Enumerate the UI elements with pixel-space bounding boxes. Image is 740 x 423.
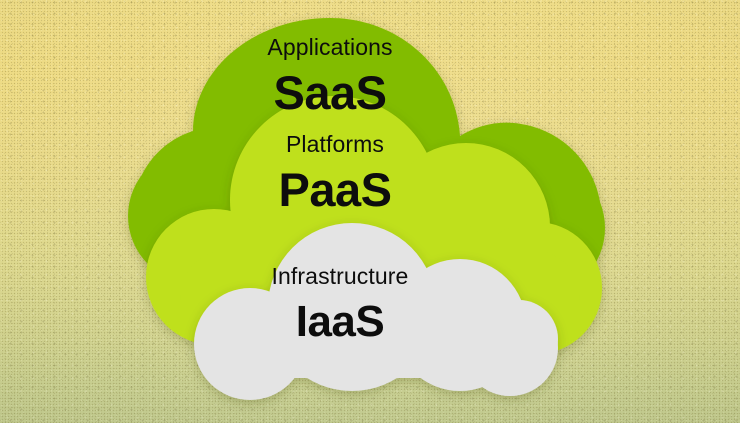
acronym-paas: PaaS <box>195 166 475 213</box>
tier-label-platforms: Platforms <box>195 133 475 156</box>
label-group-iaas: Infrastructure IaaS <box>200 265 480 344</box>
tier-label-applications: Applications <box>190 36 470 59</box>
cloud-service-model-diagram: Applications SaaS Platforms PaaS Infrast… <box>0 0 740 423</box>
label-group-paas: Platforms PaaS <box>195 133 475 213</box>
label-group-saas: Applications SaaS <box>190 36 470 116</box>
acronym-saas: SaaS <box>190 69 470 116</box>
tier-label-infrastructure: Infrastructure <box>200 265 480 288</box>
acronym-iaas: IaaS <box>200 300 480 344</box>
